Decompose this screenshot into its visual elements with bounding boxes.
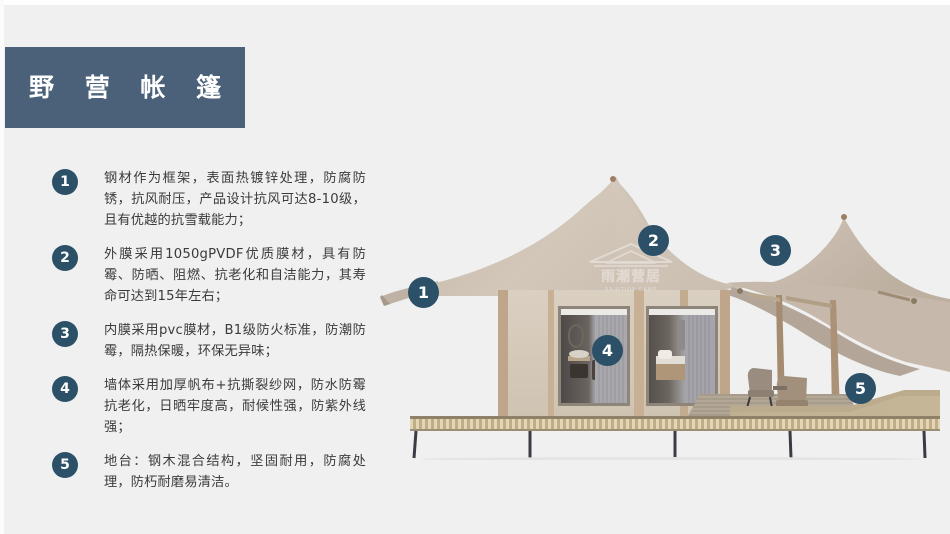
top-white-strip [0,0,950,5]
marker-pin-5[interactable]: 5 [845,373,876,404]
wall-post-left [498,290,508,416]
wall-post-center [634,290,644,416]
marker-pin-3[interactable]: 3 [760,235,791,266]
list-item: 4 墙体采用加厚帆布+抗撕裂纱网，防水防霉抗老化，日晒牢度高，耐候性强，防紫外线… [52,375,372,438]
interior-basin [569,350,589,358]
canopy-peak-tip-right [841,214,847,220]
feature-text-5: 地台：钢木混合结构，坚固耐用，防腐处理，防朽耐磨易清洁。 [104,451,366,493]
feature-badge-4: 4 [52,376,78,402]
deck-fascia-top-line [410,416,940,419]
deck-fascia-bottom-line [410,429,940,431]
interior-cabinet [570,364,588,378]
tent-illustration: 雨潮营居 RAINTIDE CAMP 1 2 3 4 5 [380,150,950,460]
awning-anchor-icon [911,298,917,304]
awning-anchor-left-icon [737,288,743,294]
feature-text-4: 墙体采用加厚帆布+抗撕裂纱网，防水防霉抗老化，日晒牢度高，耐候性强，防紫外线强； [104,375,366,438]
feature-badge-2: 2 [52,245,78,271]
page-title-banner: 野 营 帐 篷 [5,47,245,128]
ground-shadow [420,457,920,460]
feature-text-2: 外膜采用1050gPVDF优质膜材，具有防霉、防晒、阻燃、抗老化和自洁能力，其寿… [104,244,366,307]
feature-text-3: 内膜采用pvc膜材，B1级防火标准，防潮防霉，隔热保暖，环保无异味； [104,320,366,362]
wall-post-inner-left [548,290,554,416]
page-title: 野 营 帐 篷 [29,75,232,100]
feature-badge-5: 5 [52,452,78,478]
marker-pin-4[interactable]: 4 [592,335,623,366]
marker-pin-1[interactable]: 1 [408,277,439,308]
marker-pin-2[interactable]: 2 [638,225,669,256]
slide-root: 野 营 帐 篷 1 钢材作为框架，表面热镀锌处理，防腐防锈，抗风耐压，产品设计抗… [0,0,950,534]
window-blind-right [649,309,715,315]
feature-text-1: 钢材作为框架，表面热镀锌处理，防腐防锈，抗风耐压，产品设计抗风可达8-10级，且… [104,168,366,231]
side-table [773,386,787,390]
window-blind-left [561,309,627,315]
feature-badge-3: 3 [52,321,78,347]
left-white-strip [0,0,4,534]
list-item: 1 钢材作为框架，表面热镀锌处理，防腐防锈，抗风耐压，产品设计抗风可达8-10级… [52,168,372,231]
list-item: 5 地台：钢木混合结构，坚固耐用，防腐处理，防朽耐磨易清洁。 [52,451,372,493]
interior-pillow [658,350,672,359]
deck-fascia-stripes [410,418,940,430]
feature-list: 1 钢材作为框架，表面热镀锌处理，防腐防锈，抗风耐压，产品设计抗风可达8-10级… [52,168,372,506]
list-item: 3 内膜采用pvc膜材，B1级防火标准，防潮防霉，隔热保暖，环保无异味； [52,320,372,362]
tent-svg [380,150,950,460]
list-item: 2 外膜采用1050gPVDF优质膜材，具有防霉、防晒、阻燃、抗老化和自洁能力，… [52,244,372,307]
feature-badge-1: 1 [52,169,78,195]
canopy-peak-tip-left [610,176,616,182]
deck-support-legs [414,431,925,458]
